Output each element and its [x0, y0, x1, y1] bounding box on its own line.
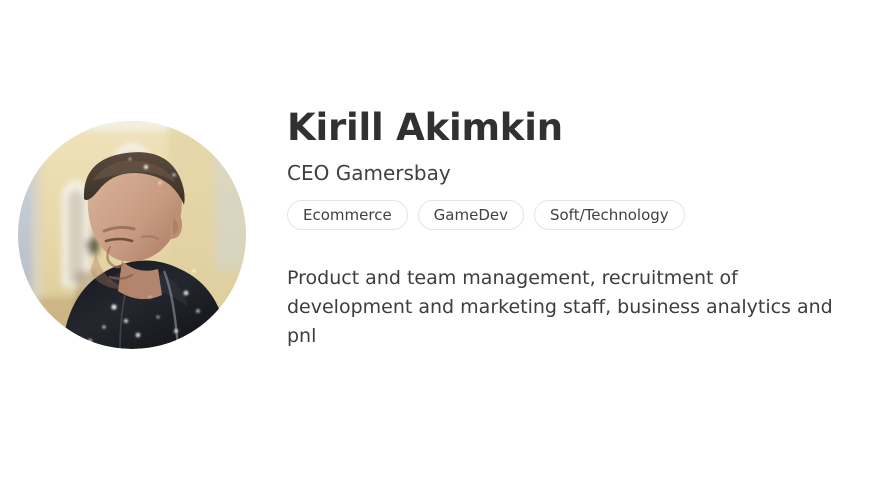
person-role: CEO Gamersbay — [287, 152, 847, 186]
avatar — [18, 121, 246, 349]
tag-gamedev[interactable]: GameDev — [418, 200, 524, 230]
person-name: Kirill Akimkin — [287, 104, 847, 152]
tag-list: Ecommerce GameDev Soft/Technology — [287, 186, 847, 230]
tag-soft-technology[interactable]: Soft/Technology — [534, 200, 685, 230]
person-bio: Product and team management, recruitment… — [287, 230, 843, 351]
profile-card: Kirill Akimkin CEO Gamersbay Ecommerce G… — [0, 0, 876, 485]
avatar-photo — [18, 121, 246, 349]
tag-ecommerce[interactable]: Ecommerce — [287, 200, 408, 230]
profile-info: Kirill Akimkin CEO Gamersbay Ecommerce G… — [287, 104, 847, 351]
